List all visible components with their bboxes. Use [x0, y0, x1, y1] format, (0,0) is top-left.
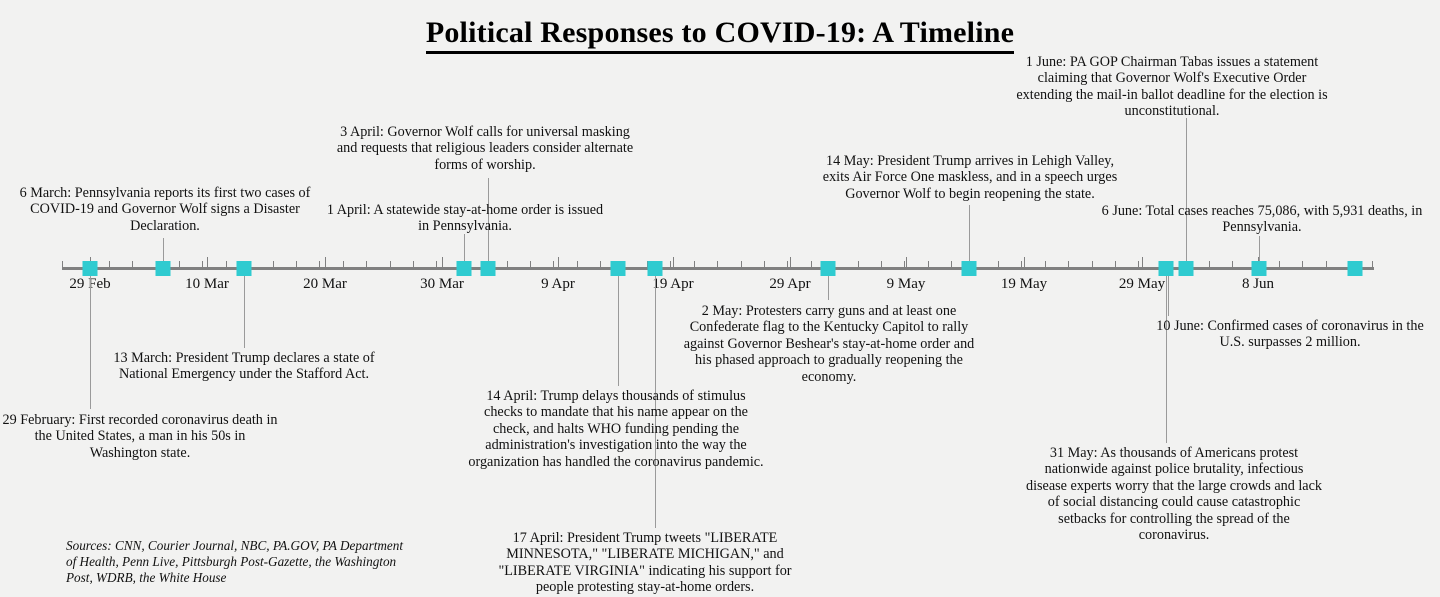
axis-tick-major [790, 257, 791, 268]
axis-tick-minor [1138, 261, 1139, 267]
leader-line [90, 276, 91, 409]
event-annotation: 6 March: Pennsylvania reports its first … [10, 185, 320, 234]
axis-tick-minor [904, 261, 905, 267]
axis-tick-minor [1092, 261, 1093, 267]
timeline-axis [62, 267, 1374, 270]
axis-tick-minor [132, 261, 133, 267]
event-annotation: 29 February: First recorded coronavirus … [0, 412, 280, 461]
axis-tick-major [1024, 257, 1025, 268]
axis-tick-minor [436, 261, 437, 267]
axis-label: 9 Apr [541, 276, 575, 293]
sources-note: Sources: CNN, Courier Journal, NBC, PA.G… [66, 538, 412, 586]
axis-tick-minor [717, 261, 718, 267]
axis-tick-minor [1372, 261, 1373, 267]
axis-tick-minor [858, 261, 859, 267]
timeline-marker[interactable] [962, 261, 977, 276]
axis-label: 19 May [1001, 276, 1047, 293]
axis-tick-major [558, 257, 559, 268]
event-annotation: 1 April: A statewide stay-at-home order … [325, 202, 605, 235]
timeline-marker[interactable] [481, 261, 496, 276]
axis-label: 30 Mar [420, 276, 464, 293]
page-title: Political Responses to COVID-19: A Timel… [0, 16, 1440, 50]
axis-tick-minor [670, 261, 671, 267]
axis-tick-minor [928, 261, 929, 267]
timeline-marker[interactable] [237, 261, 252, 276]
timeline-marker[interactable] [648, 261, 663, 276]
axis-tick-minor [577, 261, 578, 267]
leader-line [244, 276, 245, 348]
axis-tick-major [906, 257, 907, 268]
axis-tick-minor [226, 261, 227, 267]
leader-line [464, 234, 465, 262]
event-annotation: 3 April: Governor Wolf calls for univers… [330, 124, 640, 173]
event-annotation: 17 April: President Trump tweets "LIBERA… [492, 530, 798, 596]
axis-tick-minor [811, 261, 812, 267]
axis-label: 29 May [1119, 276, 1165, 293]
axis-tick-minor [741, 261, 742, 267]
axis-tick-minor [1326, 261, 1327, 267]
axis-label: 9 May [887, 276, 926, 293]
timeline-marker[interactable] [457, 261, 472, 276]
event-annotation: 1 June: PA GOP Chairman Tabas issues a s… [1014, 54, 1330, 120]
axis-label: 19 Apr [652, 276, 693, 293]
axis-tick-minor [1115, 261, 1116, 267]
axis-tick-minor [202, 261, 203, 267]
timeline-marker[interactable] [1179, 261, 1194, 276]
axis-tick-minor [1302, 261, 1303, 267]
event-annotation: 13 March: President Trump declares a sta… [96, 350, 392, 383]
axis-label: 10 Mar [185, 276, 229, 293]
event-annotation: 31 May: As thousands of Americans protes… [1024, 445, 1324, 543]
timeline-infographic: Political Responses to COVID-19: A Timel… [0, 0, 1440, 597]
event-annotation: 6 June: Total cases reaches 75,086, with… [1092, 203, 1432, 236]
axis-tick-minor [530, 261, 531, 267]
axis-tick-minor [1279, 261, 1280, 267]
leader-line [828, 276, 829, 300]
axis-tick-minor [764, 261, 765, 267]
axis-tick-minor [694, 261, 695, 267]
axis-tick-minor [179, 261, 180, 267]
axis-tick-minor [951, 261, 952, 267]
timeline-marker[interactable] [156, 261, 171, 276]
event-annotation: 14 April: Trump delays thousands of stim… [466, 388, 766, 470]
axis-label: 8 Jun [1242, 276, 1274, 293]
axis-tick-major [325, 257, 326, 268]
leader-line [1186, 118, 1187, 262]
axis-tick-major [1142, 257, 1143, 268]
axis-tick-minor [1232, 261, 1233, 267]
axis-tick-minor [1021, 261, 1022, 267]
axis-tick-minor [413, 261, 414, 267]
axis-tick-minor [998, 261, 999, 267]
event-annotation: 2 May: Protesters carry guns and at leas… [683, 303, 975, 385]
leader-line [1259, 236, 1260, 262]
event-annotation: 10 June: Confirmed cases of coronavirus … [1144, 318, 1436, 351]
axis-tick-minor [787, 261, 788, 267]
axis-tick-minor [1045, 261, 1046, 267]
axis-tick-minor [273, 261, 274, 267]
axis-tick-minor [507, 261, 508, 267]
timeline-marker[interactable] [821, 261, 836, 276]
leader-line [1166, 276, 1167, 443]
page-title-text: Political Responses to COVID-19: A Timel… [426, 16, 1014, 54]
axis-tick-minor [390, 261, 391, 267]
axis-tick-minor [1068, 261, 1069, 267]
axis-tick-minor [62, 261, 63, 267]
timeline-marker[interactable] [1159, 261, 1174, 276]
axis-tick-minor [881, 261, 882, 267]
timeline-marker[interactable] [83, 261, 98, 276]
axis-tick-major [207, 257, 208, 268]
leader-line [1168, 276, 1169, 316]
leader-line [618, 276, 619, 386]
axis-tick-minor [553, 261, 554, 267]
axis-label: 29 Apr [769, 276, 810, 293]
leader-line [163, 238, 164, 262]
axis-tick-minor [343, 261, 344, 267]
event-annotation: 14 May: President Trump arrives in Lehig… [814, 153, 1126, 202]
axis-tick-minor [319, 261, 320, 267]
axis-tick-major [673, 257, 674, 268]
axis-tick-minor [366, 261, 367, 267]
axis-tick-minor [600, 261, 601, 267]
axis-tick-minor [109, 261, 110, 267]
leader-line [969, 205, 970, 262]
axis-tick-major [442, 257, 443, 268]
timeline-marker[interactable] [1348, 261, 1363, 276]
timeline-marker[interactable] [1252, 261, 1267, 276]
axis-label: 20 Mar [303, 276, 347, 293]
axis-tick-minor [1209, 261, 1210, 267]
timeline-marker[interactable] [611, 261, 626, 276]
axis-tick-minor [296, 261, 297, 267]
